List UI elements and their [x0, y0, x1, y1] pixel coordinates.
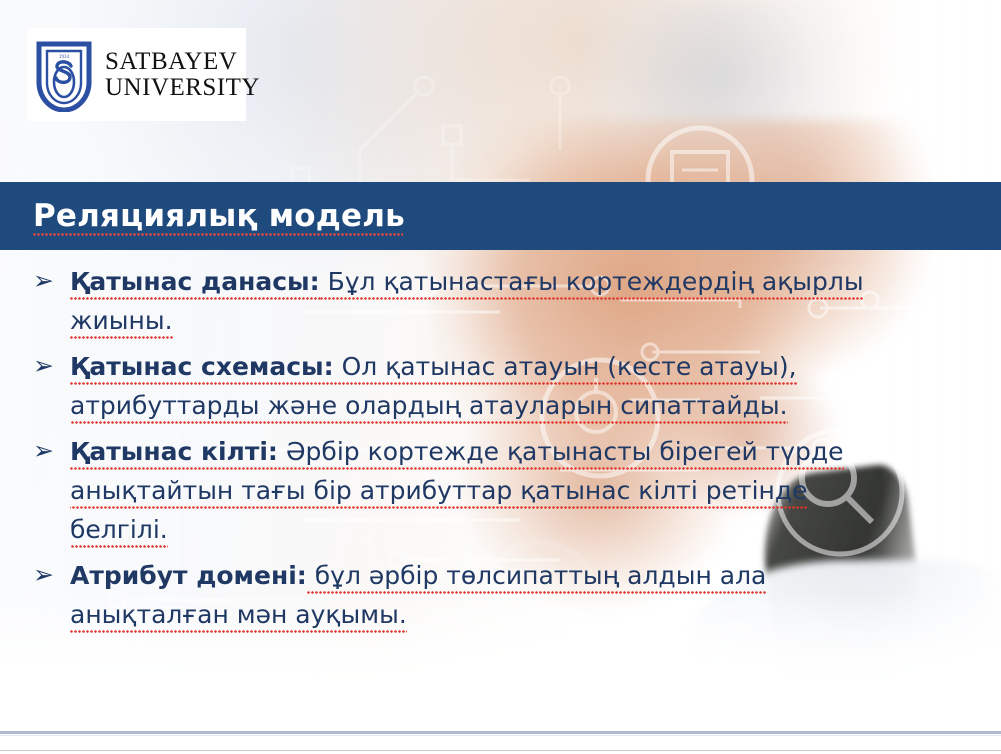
list-item: ➢ Қатынас схемасы: Ол қатынас атауын (ке…: [30, 347, 910, 425]
list-item: ➢ Атрибут домені: бұл әрбір төлсипаттың …: [30, 556, 910, 634]
list-item: ➢ Қатынас данасы: Бұл қатынастағы кортеж…: [30, 262, 910, 340]
list-item: ➢ Қатынас кілті: Әрбір кортежде қатынаст…: [30, 432, 910, 549]
satbayev-shield-icon: 1934: [35, 38, 93, 112]
footer-area: [0, 736, 1001, 750]
logo-line-2: UNIVERSITY: [105, 75, 260, 101]
footer-baseline: [0, 750, 1001, 751]
satbayev-university-logo: 1934 SATBAYEV UNIVERSITY: [27, 28, 246, 121]
bullet-list: ➢ Қатынас данасы: Бұл қатынастағы кортеж…: [30, 262, 910, 641]
arrow-bullet-icon: ➢: [30, 556, 70, 594]
bullet-term: Қатынас кілті:: [70, 437, 278, 470]
presentation-slide: 1934 SATBAYEV UNIVERSITY Реляциялық моде…: [0, 0, 1001, 754]
bullet-text: Атрибут домені: бұл әрбір төлсипаттың ал…: [70, 556, 910, 634]
bullet-text: Қатынас кілті: Әрбір кортежде қатынасты …: [70, 432, 910, 549]
bullet-term: Атрибут домені:: [70, 561, 307, 590]
bullet-text: Қатынас схемасы: Ол қатынас атауын (кест…: [70, 347, 910, 425]
arrow-bullet-icon: ➢: [30, 432, 70, 470]
arrow-bullet-icon: ➢: [30, 347, 70, 385]
logo-wordmark: SATBAYEV UNIVERSITY: [105, 49, 260, 101]
footer-divider-secondary: [0, 735, 1001, 736]
bullet-text: Қатынас данасы: Бұл қатынастағы кортежде…: [70, 262, 910, 340]
bullet-term: Қатынас данасы:: [70, 267, 320, 300]
page-title: Реляциялық модель: [33, 198, 405, 234]
arrow-bullet-icon: ➢: [30, 262, 70, 300]
svg-text:1934: 1934: [59, 55, 70, 60]
footer-divider: [0, 731, 1001, 734]
bullet-term: Қатынас схемасы:: [70, 352, 334, 385]
title-banner: Реляциялық модель: [0, 182, 1001, 250]
logo-line-1: SATBAYEV: [105, 49, 260, 75]
